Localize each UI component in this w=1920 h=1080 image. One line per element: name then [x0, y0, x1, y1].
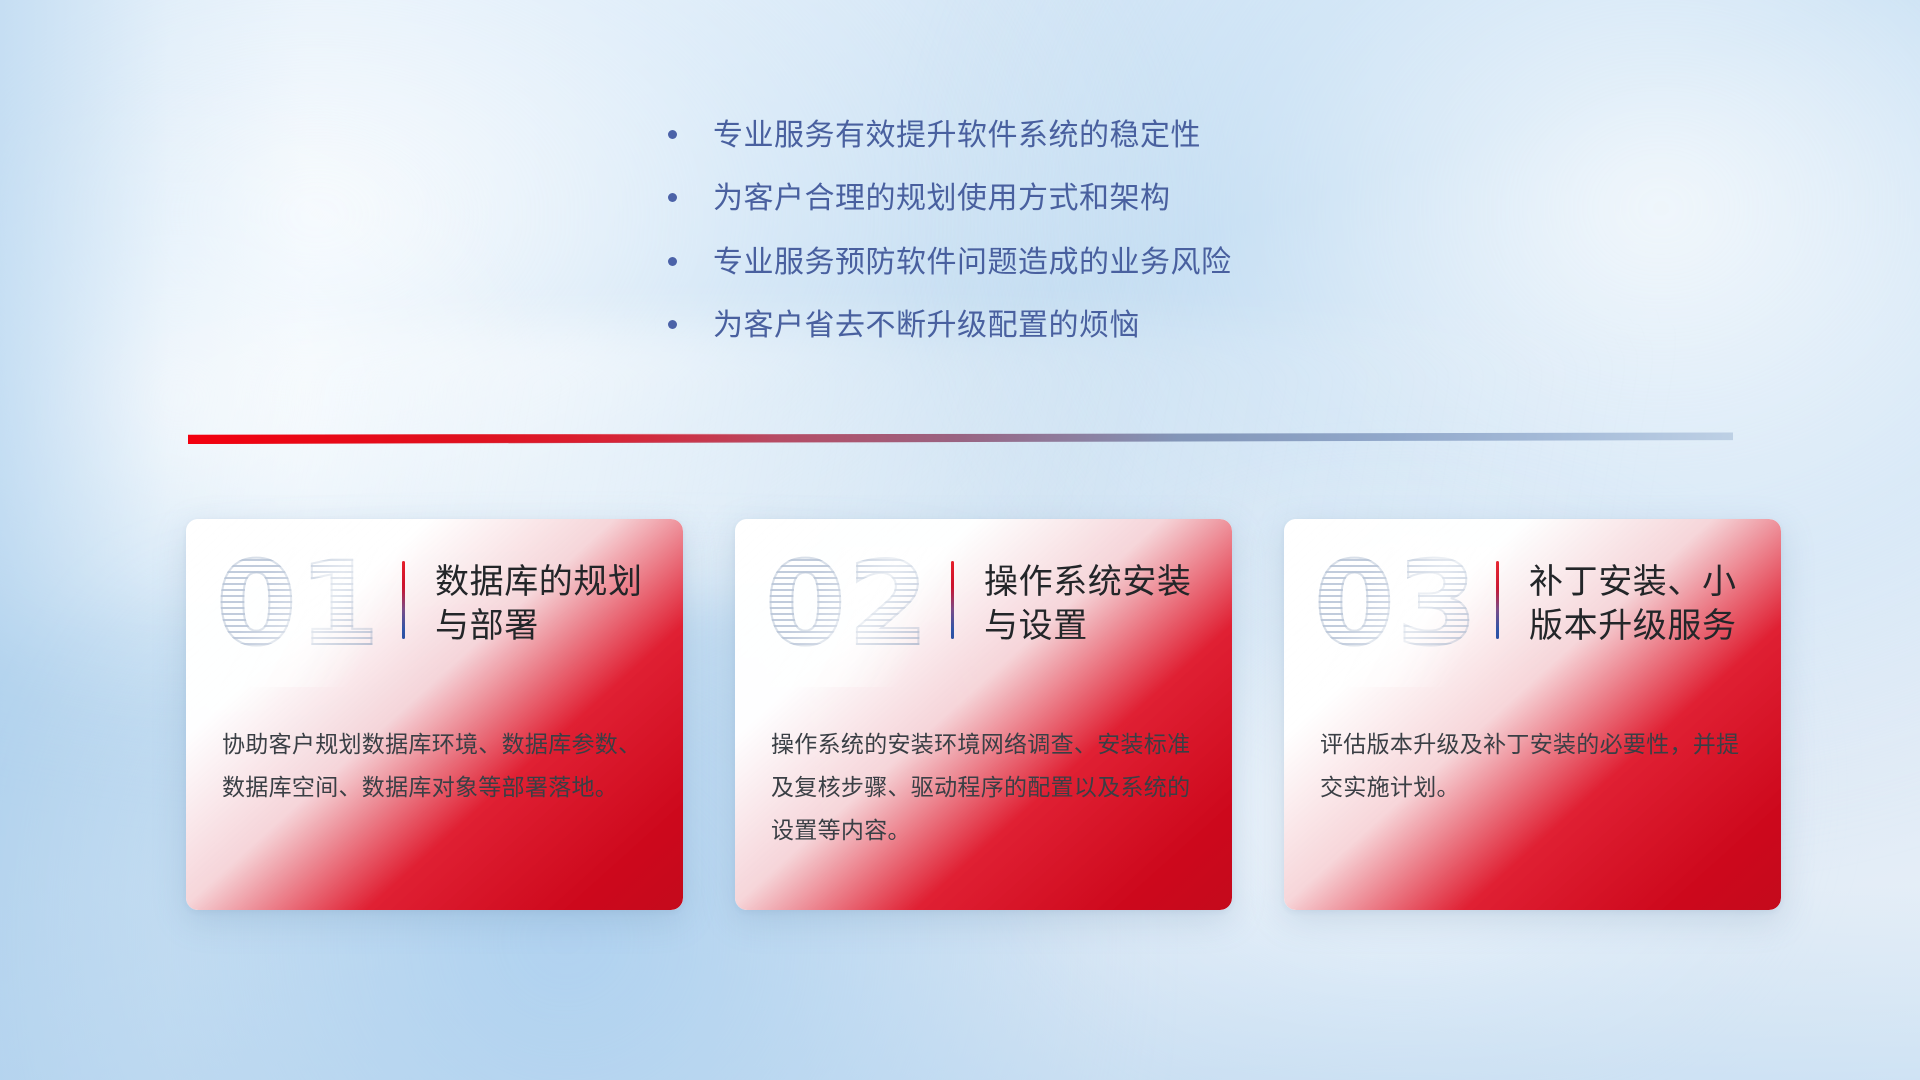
card-title: 补丁安装、小 版本升级服务	[1529, 561, 1737, 648]
card-title: 数据库的规划 与部署	[435, 561, 643, 648]
bullet-text: 专业服务预防软件问题造成的业务风险	[713, 245, 1232, 280]
list-item: 专业服务预防软件问题造成的业务风险	[668, 245, 1232, 280]
list-item: 专业服务有效提升软件系统的稳定性	[668, 118, 1232, 153]
bullet-dot-icon	[668, 257, 677, 266]
card-number-watermark: 03	[1314, 547, 1479, 663]
title-accent-bar	[951, 561, 954, 639]
service-card[interactable]: 01 数据库的规划 与部署 协助客户规划数据库环境、数据库参数、数据库空间、数据…	[186, 519, 683, 910]
bullet-dot-icon	[668, 193, 677, 202]
card-description: 评估版本升级及补丁安装的必要性，并提交实施计划。	[1320, 723, 1747, 809]
card-number-watermark: 01	[216, 547, 381, 663]
section-divider	[188, 430, 1733, 444]
bullet-text: 为客户省去不断升级配置的烦恼	[713, 308, 1140, 343]
service-card[interactable]: 02 操作系统安装 与设置 操作系统的安装环境网络调查、安装标准及复核步骤、驱动…	[735, 519, 1232, 910]
service-card[interactable]: 03 补丁安装、小 版本升级服务 评估版本升级及补丁安装的必要性，并提交实施计划…	[1284, 519, 1781, 910]
card-header: 01 数据库的规划 与部署	[222, 555, 649, 683]
list-item: 为客户合理的规划使用方式和架构	[668, 181, 1232, 216]
card-description: 操作系统的安装环境网络调查、安装标准及复核步骤、驱动程序的配置以及系统的设置等内…	[771, 723, 1198, 851]
benefits-bullet-list: 专业服务有效提升软件系统的稳定性 为客户合理的规划使用方式和架构 专业服务预防软…	[668, 118, 1232, 372]
bullet-text: 为客户合理的规划使用方式和架构	[713, 181, 1171, 216]
card-title: 操作系统安装 与设置	[984, 561, 1192, 648]
title-accent-bar	[402, 561, 405, 639]
bullet-dot-icon	[668, 130, 677, 139]
service-card-list: 01 数据库的规划 与部署 协助客户规划数据库环境、数据库参数、数据库空间、数据…	[186, 519, 1781, 910]
list-item: 为客户省去不断升级配置的烦恼	[668, 308, 1232, 343]
card-header: 02 操作系统安装 与设置	[771, 555, 1198, 683]
bullet-text: 专业服务有效提升软件系统的稳定性	[713, 118, 1201, 153]
card-number-watermark: 02	[765, 547, 930, 663]
background-vignette-bottom	[0, 886, 1920, 1080]
card-description: 协助客户规划数据库环境、数据库参数、数据库空间、数据库对象等部署落地。	[222, 723, 649, 809]
title-accent-bar	[1496, 561, 1499, 639]
card-header: 03 补丁安装、小 版本升级服务	[1320, 555, 1747, 683]
bullet-dot-icon	[668, 320, 677, 329]
